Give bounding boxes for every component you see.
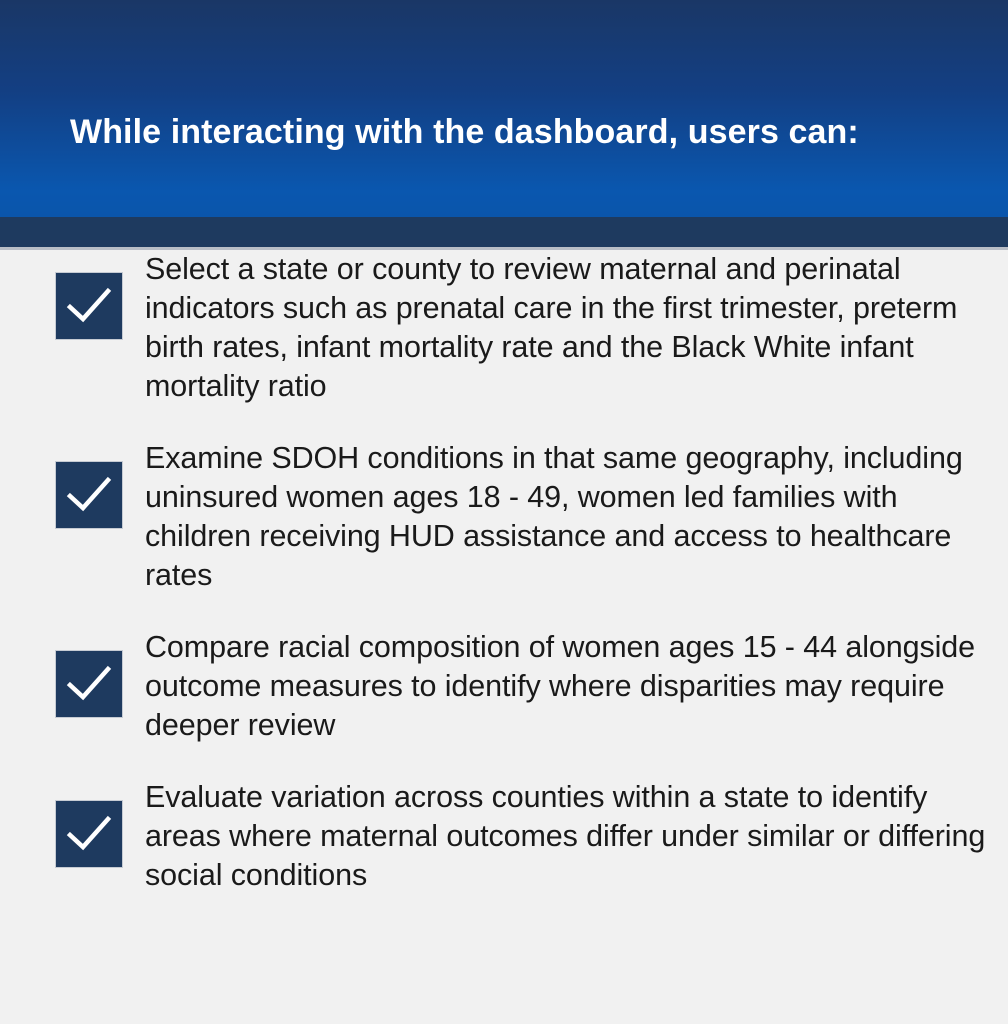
checkmark-icon [66, 286, 112, 326]
list-item: Select a state or county to review mater… [0, 250, 1008, 406]
slide-root: While interacting with the dashboard, us… [0, 0, 1008, 1024]
checkmark-icon [66, 664, 112, 704]
checkbox-checked [55, 461, 123, 529]
checkmark-icon [66, 814, 112, 854]
list-item: Evaluate variation across counties withi… [0, 778, 1008, 895]
checkbox-checked [55, 800, 123, 868]
page-title: While interacting with the dashboard, us… [70, 110, 859, 154]
list-item-text: Examine SDOH conditions in that same geo… [123, 439, 1008, 595]
checkmark-icon [66, 475, 112, 515]
checkbox-checked [55, 650, 123, 718]
checklist: Select a state or county to review mater… [0, 250, 1008, 928]
list-item-text: Evaluate variation across counties withi… [123, 778, 1008, 895]
list-item: Examine SDOH conditions in that same geo… [0, 439, 1008, 595]
header-banner: While interacting with the dashboard, us… [0, 0, 1008, 217]
list-item-text: Select a state or county to review mater… [123, 250, 1008, 406]
header-divider-band [0, 217, 1008, 247]
checkbox-checked [55, 272, 123, 340]
list-item-text: Compare racial composition of women ages… [123, 628, 1008, 745]
list-item: Compare racial composition of women ages… [0, 628, 1008, 745]
